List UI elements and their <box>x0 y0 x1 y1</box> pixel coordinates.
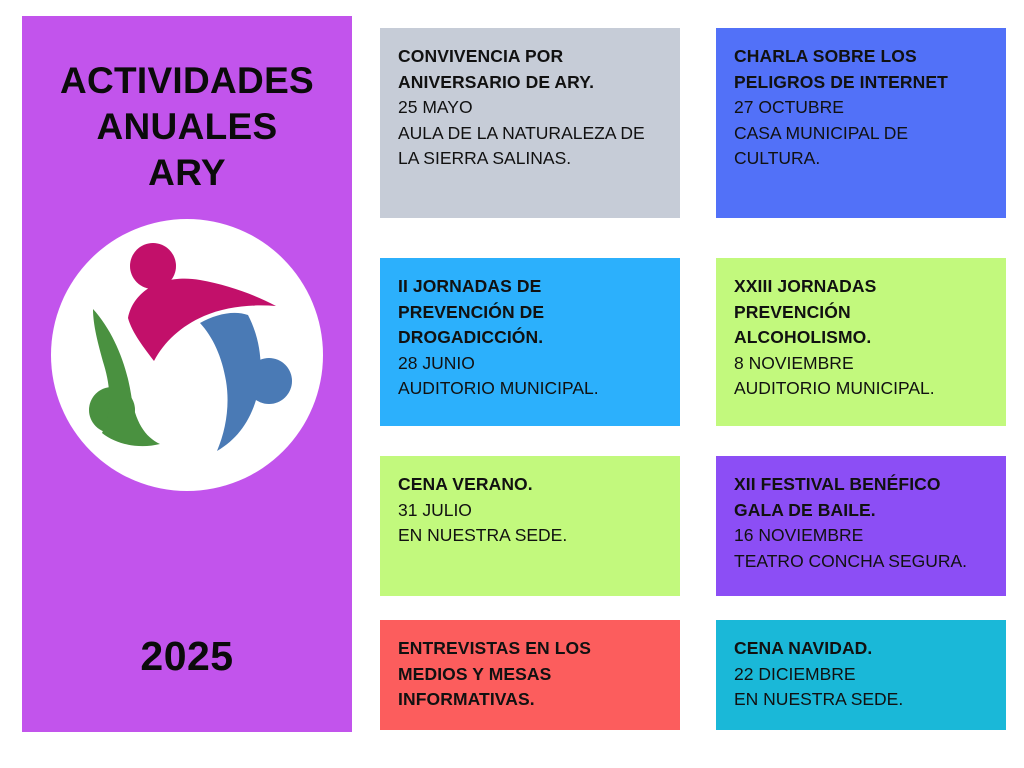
card-venue-line: EN NUESTRA SEDE. <box>398 523 662 549</box>
card-title-line: PREVENCIÓN DE <box>398 300 662 326</box>
card-venue-line: CULTURA. <box>734 146 988 172</box>
card-venue-line: AUDITORIO MUNICIPAL. <box>734 376 988 402</box>
card-title-line: PELIGROS DE INTERNET <box>734 70 988 96</box>
card-date: 22 DICIEMBRE <box>734 662 988 688</box>
card-title-line: DROGADICCIÓN. <box>398 325 662 351</box>
card-venue-line: AULA DE LA NATURALEZA DE <box>398 121 662 147</box>
activity-card-entrevistas-medios-mesas: ENTREVISTAS EN LOS MEDIOS Y MESAS INFORM… <box>380 620 680 730</box>
card-venue-line: TEATRO CONCHA SEGURA. <box>734 549 988 575</box>
poster-year: 2025 <box>22 633 352 680</box>
card-date: 25 MAYO <box>398 95 662 121</box>
page-title-line-3: ARY <box>37 150 337 196</box>
card-venue-line: CASA MUNICIPAL DE <box>734 121 988 147</box>
activity-card-jornadas-prevencion-alcoholismo: XXIII JORNADAS PREVENCIÓN ALCOHOLISMO. 8… <box>716 258 1006 426</box>
card-title-line: CONVIVENCIA POR <box>398 44 662 70</box>
card-title-line: II JORNADAS DE <box>398 274 662 300</box>
card-title-line: CENA VERANO. <box>398 472 662 498</box>
card-title-line: MEDIOS Y MESAS <box>398 662 662 688</box>
card-venue-line: LA SIERRA SALINAS. <box>398 146 662 172</box>
page-title: ACTIVIDADES ANUALES ARY <box>37 58 337 196</box>
page-title-line-2: ANUALES <box>37 104 337 150</box>
card-title-line: ALCOHOLISMO. <box>734 325 988 351</box>
card-venue-line: AUDITORIO MUNICIPAL. <box>398 376 662 402</box>
activities-poster: ACTIVIDADES ANUALES ARY <box>0 0 1024 768</box>
activity-card-convivencia-aniversario: CONVIVENCIA POR ANIVERSARIO DE ARY. 25 M… <box>380 28 680 218</box>
card-title-line: GALA DE BAILE. <box>734 498 988 524</box>
card-date: 28 JUNIO <box>398 351 662 377</box>
activity-card-cena-verano: CENA VERANO. 31 JULIO EN NUESTRA SEDE. <box>380 456 680 596</box>
card-title-line: ANIVERSARIO DE ARY. <box>398 70 662 96</box>
card-title-line: XII FESTIVAL BENÉFICO <box>734 472 988 498</box>
page-title-line-1: ACTIVIDADES <box>37 58 337 104</box>
activity-card-jornadas-prevencion-drogadiccion: II JORNADAS DE PREVENCIÓN DE DROGADICCIÓ… <box>380 258 680 426</box>
card-title-line: XXIII JORNADAS <box>734 274 988 300</box>
activity-card-festival-benefico-gala-baile: XII FESTIVAL BENÉFICO GALA DE BAILE. 16 … <box>716 456 1006 596</box>
ary-triskelion-logo <box>50 218 324 492</box>
activity-card-cena-navidad: CENA NAVIDAD. 22 DICIEMBRE EN NUESTRA SE… <box>716 620 1006 730</box>
card-title-line: INFORMATIVAS. <box>398 687 662 713</box>
activity-card-charla-peligros-internet: CHARLA SOBRE LOS PELIGROS DE INTERNET 27… <box>716 28 1006 218</box>
card-date: 8 NOVIEMBRE <box>734 351 988 377</box>
card-date: 31 JULIO <box>398 498 662 524</box>
card-venue-line: EN NUESTRA SEDE. <box>734 687 988 713</box>
card-date: 16 NOVIEMBRE <box>734 523 988 549</box>
card-title-line: CENA NAVIDAD. <box>734 636 988 662</box>
card-title-line: PREVENCIÓN <box>734 300 988 326</box>
card-title-line: ENTREVISTAS EN LOS <box>398 636 662 662</box>
poster-left-panel: ACTIVIDADES ANUALES ARY <box>22 16 352 732</box>
card-title-line: CHARLA SOBRE LOS <box>734 44 988 70</box>
card-date: 27 OCTUBRE <box>734 95 988 121</box>
